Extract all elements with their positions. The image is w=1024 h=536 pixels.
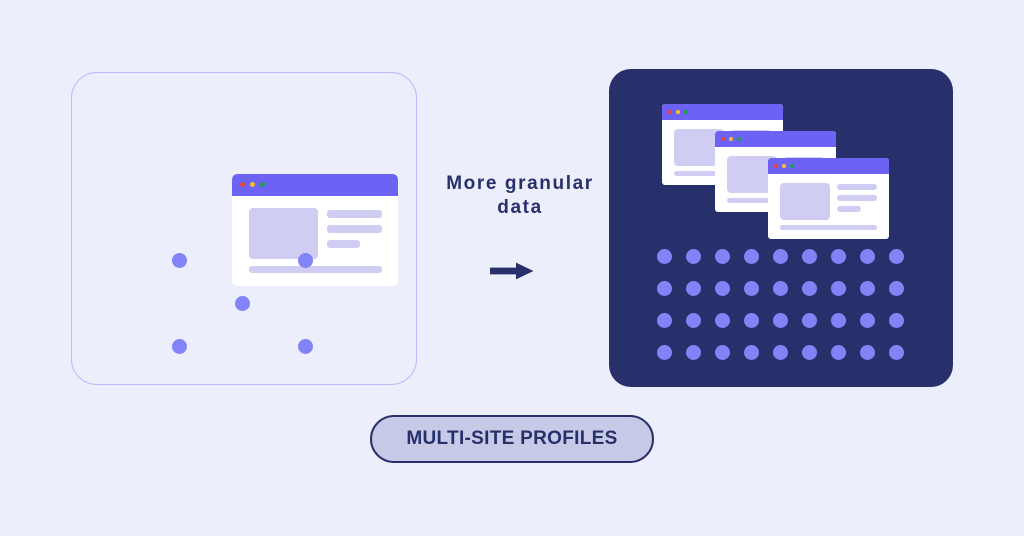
data-dot — [744, 249, 759, 264]
data-dot — [773, 281, 788, 296]
data-dot — [686, 345, 701, 360]
data-dot — [831, 313, 846, 328]
arrow-right-icon — [490, 262, 534, 280]
data-dot — [831, 345, 846, 360]
data-dot — [686, 313, 701, 328]
data-dot — [831, 249, 846, 264]
window-title-bar — [715, 131, 836, 147]
data-dot — [860, 345, 875, 360]
transition-caption: More granular data — [440, 172, 600, 220]
single-site-card — [71, 72, 417, 385]
data-dot — [715, 281, 730, 296]
data-dot — [657, 249, 672, 264]
data-dot — [889, 249, 904, 264]
maximize-icon — [790, 164, 794, 168]
close-icon — [774, 164, 778, 168]
data-dot — [773, 345, 788, 360]
data-dot — [831, 281, 846, 296]
data-dot — [657, 345, 672, 360]
data-dot — [889, 345, 904, 360]
image-placeholder — [249, 208, 318, 259]
text-line-placeholder — [327, 225, 382, 233]
data-dot — [802, 345, 817, 360]
data-dot — [172, 339, 187, 354]
data-dot — [802, 249, 817, 264]
data-dot — [686, 249, 701, 264]
data-dot — [686, 281, 701, 296]
data-dot — [744, 313, 759, 328]
text-line-placeholder — [780, 225, 877, 230]
close-icon — [668, 110, 672, 114]
data-dot — [860, 313, 875, 328]
text-line-placeholder — [837, 206, 861, 212]
data-dot — [802, 281, 817, 296]
minimize-icon — [676, 110, 680, 114]
data-dot — [773, 249, 788, 264]
window-title-bar — [662, 104, 783, 120]
minimize-icon — [729, 137, 733, 141]
data-dot — [802, 313, 817, 328]
text-line-placeholder — [327, 240, 360, 248]
multi-site-dot-grid — [657, 249, 905, 359]
data-dot — [172, 253, 187, 268]
data-dot — [715, 313, 730, 328]
maximize-icon — [684, 110, 688, 114]
window-title-bar — [768, 158, 889, 174]
data-dot — [657, 313, 672, 328]
maximize-icon — [737, 137, 741, 141]
data-dot — [657, 281, 672, 296]
data-dot — [744, 345, 759, 360]
window-title-bar — [232, 174, 398, 196]
image-placeholder — [780, 183, 830, 220]
data-dot — [773, 313, 788, 328]
text-line-placeholder — [249, 266, 382, 273]
data-dot — [298, 253, 313, 268]
data-dot — [889, 281, 904, 296]
text-line-placeholder — [837, 184, 877, 190]
data-dot — [715, 249, 730, 264]
minimize-icon — [782, 164, 786, 168]
status-badge[interactable]: MULTI-SITE PROFILES — [370, 415, 654, 463]
data-dot — [860, 281, 875, 296]
text-line-placeholder — [837, 195, 877, 201]
data-dot — [715, 345, 730, 360]
data-dot — [298, 339, 313, 354]
text-line-placeholder — [327, 210, 382, 218]
site-window-front — [768, 158, 889, 239]
status-badge-label: MULTI-SITE PROFILES — [406, 428, 617, 450]
data-dot — [235, 296, 250, 311]
close-icon — [721, 137, 725, 141]
minimize-icon — [250, 182, 255, 187]
single-site-browser-window — [232, 174, 398, 286]
multi-site-panel — [609, 69, 953, 387]
data-dot — [744, 281, 759, 296]
maximize-icon — [260, 182, 265, 187]
data-dot — [860, 249, 875, 264]
diagram-stage: More granular data — [0, 0, 1024, 536]
close-icon — [240, 182, 245, 187]
data-dot — [889, 313, 904, 328]
